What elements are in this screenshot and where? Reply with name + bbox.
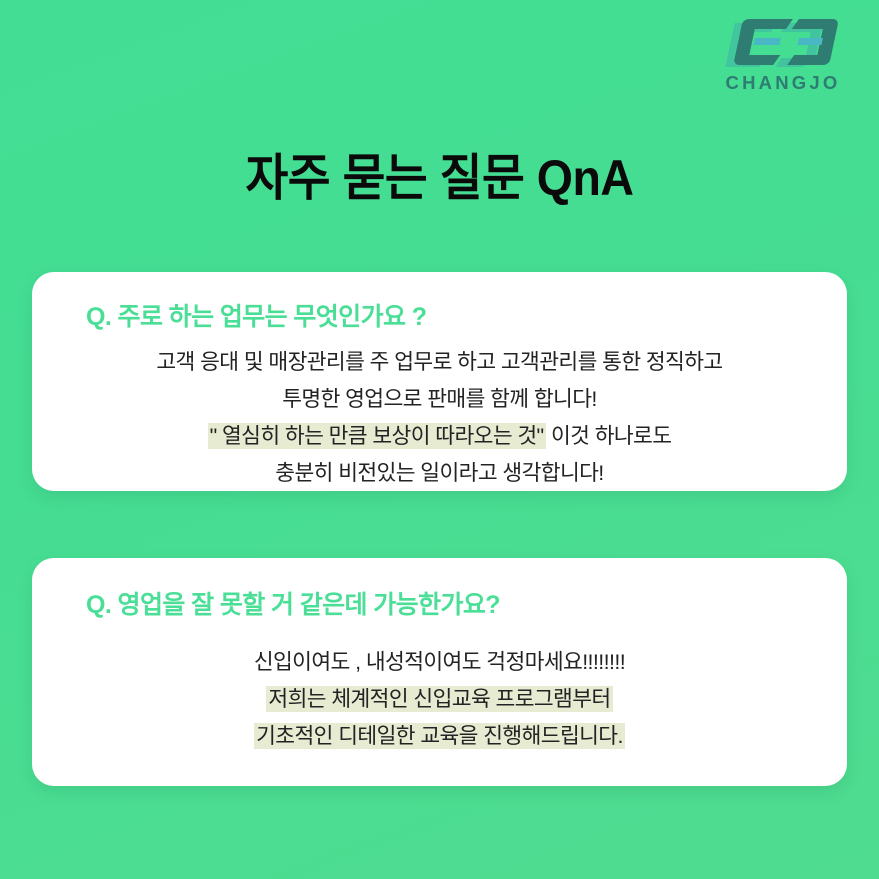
answer-text: 신입이여도 , 내성적이여도 걱정마세요!!!!!!!!	[254, 650, 625, 674]
faq-answer-line: " 열심히 하는 만큼 보상이 따라오는 것" 이것 하나로도	[60, 418, 819, 455]
highlighted-text: " 열심히 하는 만큼 보상이 따라오는 것"	[208, 423, 546, 449]
changjo-cj-monogram-icon	[722, 14, 844, 70]
faq-answer-line: 신입이여도 , 내성적이여도 걱정마세요!!!!!!!!	[60, 644, 819, 681]
faq-card-2: Q. 영업을 잘 못할 거 같은데 가능한가요? 신입이여도 , 내성적이여도 …	[32, 558, 847, 786]
answer-text: 고객 응대 및 매장관리를 주 업무로 하고 고객관리를 통한 정직하고	[156, 350, 722, 374]
faq-question-2: Q. 영업을 잘 못할 거 같은데 가능한가요?	[86, 588, 819, 622]
faq-answer-2: 신입이여도 , 내성적이여도 걱정마세요!!!!!!!!저희는 체계적인 신입교…	[60, 644, 819, 755]
faq-answer-line: 투명한 영업으로 판매를 함께 합니다!	[60, 381, 819, 418]
highlighted-text: 기초적인 디테일한 교육을 진행해드립니다.	[254, 723, 625, 749]
answer-text: 투명한 영업으로 판매를 함께 합니다!	[282, 387, 597, 411]
brand-logo: CHANGJO	[709, 14, 857, 94]
faq-card-1: Q. 주로 하는 업무는 무엇인가요 ? 고객 응대 및 매장관리를 주 업무로…	[32, 272, 847, 491]
page-title: 자주 묻는 질문 QnA	[31, 147, 848, 209]
faq-answer-line: 고객 응대 및 매장관리를 주 업무로 하고 고객관리를 통한 정직하고	[60, 344, 819, 381]
faq-answer-line: 저희는 체계적인 신입교육 프로그램부터	[60, 681, 819, 718]
faq-answer-line: 충분히 비전있는 일이라고 생각합니다!	[60, 455, 819, 492]
answer-text: 이것 하나로도	[546, 424, 672, 448]
answer-text: 충분히 비전있는 일이라고 생각합니다!	[275, 461, 603, 485]
faq-question-1: Q. 주로 하는 업무는 무엇인가요 ?	[86, 300, 819, 334]
highlighted-text: 저희는 체계적인 신입교육 프로그램부터	[266, 686, 612, 712]
faq-answer-1: 고객 응대 및 매장관리를 주 업무로 하고 고객관리를 통한 정직하고투명한 …	[60, 344, 819, 492]
brand-wordmark: CHANGJO	[709, 72, 857, 94]
faq-answer-line: 기초적인 디테일한 교육을 진행해드립니다.	[60, 718, 819, 755]
faq-poster: CHANGJO 자주 묻는 질문 QnA Q. 주로 하는 업무는 무엇인가요 …	[0, 0, 879, 879]
